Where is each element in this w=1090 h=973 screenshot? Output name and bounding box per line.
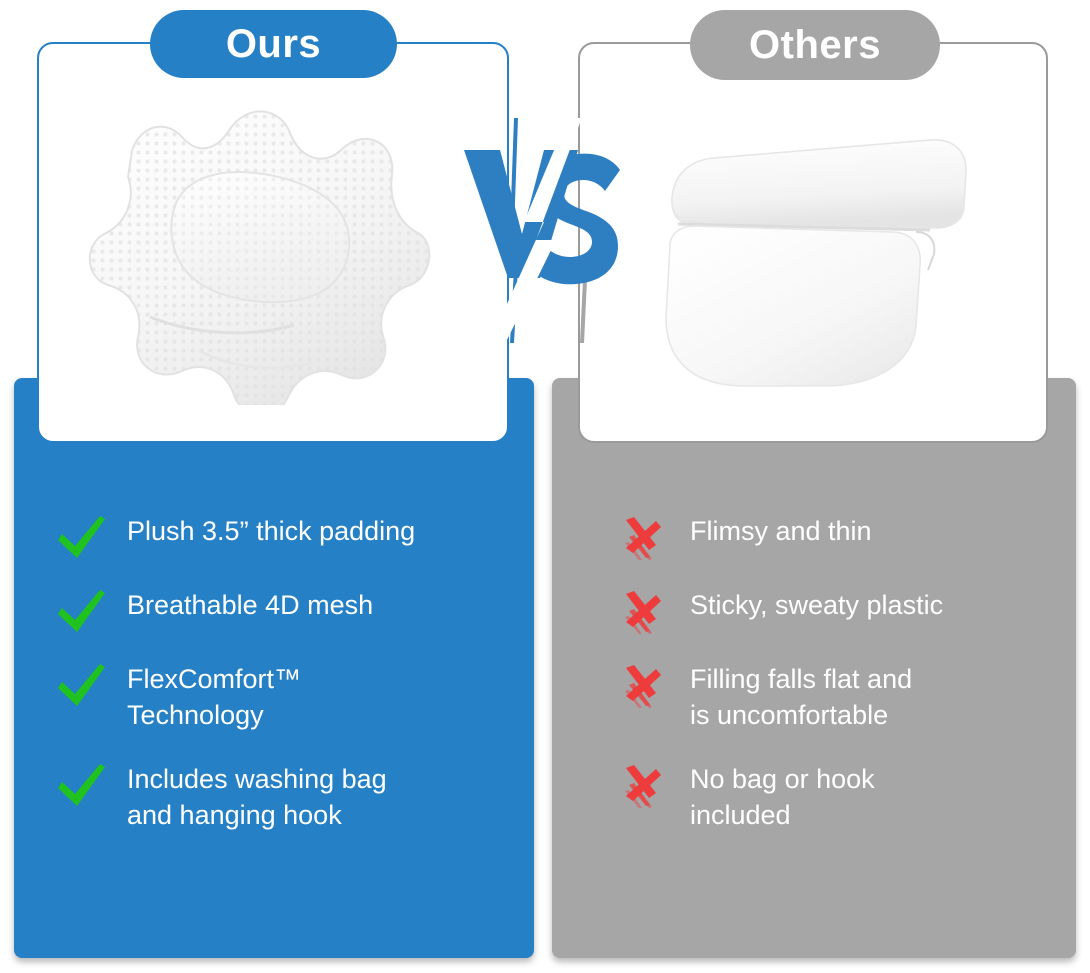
check-icon [55,663,107,709]
cross-icon [618,589,664,635]
others-feature-list: Flimsy and thin Sticky, sweaty plastic [618,513,1068,833]
list-item: Includes washing bag and hanging hook [55,761,525,833]
list-item-label: Plush 3.5” thick padding [127,513,415,549]
others-product-image [630,120,1030,410]
list-item: Flimsy and thin [618,513,1068,559]
cross-icon [618,763,664,809]
cross-icon [618,515,664,561]
ours-product-image [80,85,440,405]
list-item-label: FlexComfort™ Technology [127,661,301,733]
list-item-label: Flimsy and thin [690,513,872,549]
list-item: Breathable 4D mesh [55,587,525,633]
list-item-label: Sticky, sweaty plastic [690,587,943,623]
list-item: FlexComfort™ Technology [55,661,525,733]
ours-badge: Ours [150,10,397,78]
list-item-label: Filling falls flat and is uncomfortable [690,661,912,733]
cross-icon [618,663,664,709]
check-icon [55,589,107,635]
list-item: Plush 3.5” thick padding [55,513,525,559]
others-badge: Others [690,10,940,80]
ours-badge-label: Ours [226,22,321,67]
list-item-label: No bag or hook included [690,761,875,833]
others-badge-label: Others [749,23,881,68]
list-item-label: Includes washing bag and hanging hook [127,761,387,833]
list-item-label: Breathable 4D mesh [127,587,373,623]
vs-lightning-icon [452,118,632,343]
check-icon [55,763,107,809]
list-item: Filling falls flat and is uncomfortable [618,661,1068,733]
ours-feature-list: Plush 3.5” thick padding Breathable 4D m… [55,513,525,833]
list-item: Sticky, sweaty plastic [618,587,1068,633]
comparison-infographic: Ours Others Plush 3.5 [0,0,1090,973]
list-item: No bag or hook included [618,761,1068,833]
check-icon [55,515,107,561]
